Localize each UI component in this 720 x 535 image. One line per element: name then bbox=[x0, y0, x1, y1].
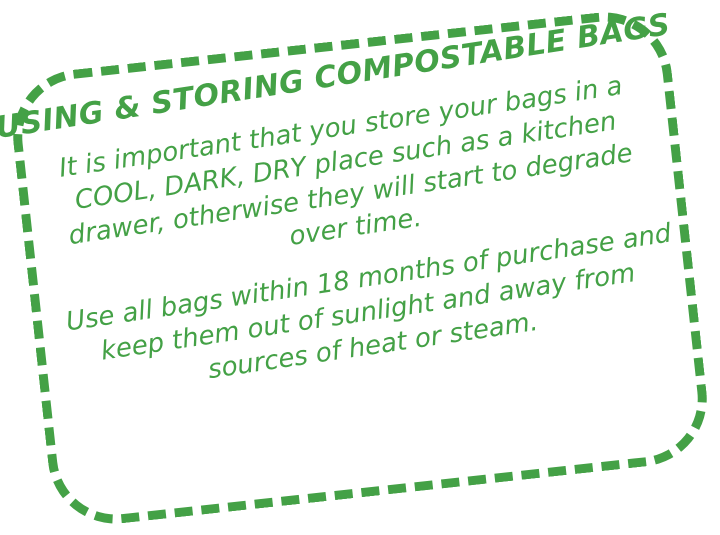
card-text-content: USING & STORING COMPOSTABLE BAGS It is i… bbox=[0, 0, 720, 535]
compostable-bags-info-card: USING & STORING COMPOSTABLE BAGS It is i… bbox=[0, 0, 720, 535]
